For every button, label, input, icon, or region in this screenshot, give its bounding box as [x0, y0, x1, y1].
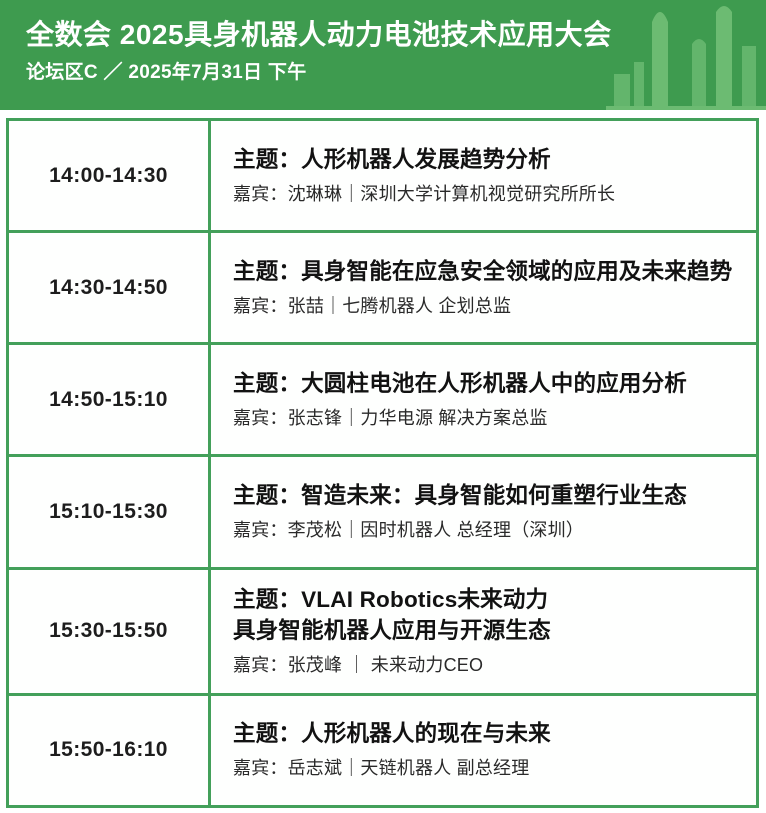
table-row: 15:30-15:50 主题：VLAI Robotics未来动力 具身智能机器人…	[8, 568, 758, 694]
session-topic: 主题：人形机器人的现在与未来	[233, 718, 746, 749]
session-detail: 主题：大圆柱电池在人形机器人中的应用分析 嘉宾：张志锋｜力华电源 解决方案总监	[210, 344, 758, 456]
session-topic-line: 主题：人形机器人的现在与未来	[233, 718, 746, 749]
session-time: 14:30-14:50	[8, 232, 210, 344]
table-row: 15:50-16:10 主题：人形机器人的现在与未来 嘉宾：岳志斌｜天链机器人 …	[8, 694, 758, 806]
session-guest: 嘉宾：岳志斌｜天链机器人 副总经理	[233, 754, 746, 782]
session-detail: 主题：VLAI Robotics未来动力 具身智能机器人应用与开源生态 嘉宾：张…	[210, 568, 758, 694]
poster-header: 全数会 2025具身机器人动力电池技术应用大会 论坛区C ／ 2025年7月31…	[0, 0, 766, 110]
session-topic-line: 主题：人形机器人发展趋势分析	[233, 144, 746, 175]
session-guest: 嘉宾：张志锋｜力华电源 解决方案总监	[233, 404, 746, 432]
session-guest: 嘉宾：张喆｜七腾机器人 企划总监	[233, 292, 746, 320]
session-topic: 主题：大圆柱电池在人形机器人中的应用分析	[233, 368, 746, 399]
session-time: 15:50-16:10	[8, 694, 210, 806]
skyline-graphic	[606, 0, 766, 110]
session-topic: 主题：VLAI Robotics未来动力 具身智能机器人应用与开源生态	[233, 584, 746, 646]
session-topic-line: 主题：大圆柱电池在人形机器人中的应用分析	[233, 368, 746, 399]
session-guest: 嘉宾：李茂松｜因时机器人 总经理（深圳）	[233, 516, 746, 544]
session-detail: 主题：具身智能在应急安全领域的应用及未来趋势 嘉宾：张喆｜七腾机器人 企划总监	[210, 232, 758, 344]
session-time: 15:30-15:50	[8, 568, 210, 694]
table-row: 14:30-14:50 主题：具身智能在应急安全领域的应用及未来趋势 嘉宾：张喆…	[8, 232, 758, 344]
conference-subtitle: 论坛区C ／ 2025年7月31日 下午	[26, 58, 612, 88]
session-detail: 主题：智造未来：具身智能如何重塑行业生态 嘉宾：李茂松｜因时机器人 总经理（深圳…	[210, 456, 758, 568]
session-topic-line: 主题：智造未来：具身智能如何重塑行业生态	[233, 480, 746, 511]
session-time: 14:00-14:30	[8, 120, 210, 232]
session-topic-line: 主题：具身智能在应急安全领域的应用及未来趋势	[233, 256, 746, 287]
session-topic-line: 主题：VLAI Robotics未来动力	[233, 584, 746, 615]
conference-title: 全数会 2025具身机器人动力电池技术应用大会	[26, 18, 612, 52]
session-topic-line: 具身智能机器人应用与开源生态	[233, 615, 746, 646]
session-detail: 主题：人形机器人发展趋势分析 嘉宾：沈琳琳｜深圳大学计算机视觉研究所所长	[210, 120, 758, 232]
session-time: 14:50-15:10	[8, 344, 210, 456]
table-row: 14:00-14:30 主题：人形机器人发展趋势分析 嘉宾：沈琳琳｜深圳大学计算…	[8, 120, 758, 232]
session-topic: 主题：具身智能在应急安全领域的应用及未来趋势	[233, 256, 746, 287]
schedule-container: 14:00-14:30 主题：人形机器人发展趋势分析 嘉宾：沈琳琳｜深圳大学计算…	[6, 118, 759, 808]
schedule-body: 14:00-14:30 主题：人形机器人发展趋势分析 嘉宾：沈琳琳｜深圳大学计算…	[8, 120, 758, 807]
session-guest: 嘉宾：沈琳琳｜深圳大学计算机视觉研究所所长	[233, 180, 746, 208]
session-topic: 主题：智造未来：具身智能如何重塑行业生态	[233, 480, 746, 511]
session-time: 15:10-15:30	[8, 456, 210, 568]
table-row: 15:10-15:30 主题：智造未来：具身智能如何重塑行业生态 嘉宾：李茂松｜…	[8, 456, 758, 568]
schedule-table: 14:00-14:30 主题：人形机器人发展趋势分析 嘉宾：沈琳琳｜深圳大学计算…	[6, 118, 759, 808]
agenda-poster: 全数会 2025具身机器人动力电池技术应用大会 论坛区C ／ 2025年7月31…	[0, 0, 766, 813]
session-guest: 嘉宾：张茂峰 ｜ 未来动力CEO	[233, 651, 746, 679]
session-detail: 主题：人形机器人的现在与未来 嘉宾：岳志斌｜天链机器人 副总经理	[210, 694, 758, 806]
header-text-block: 全数会 2025具身机器人动力电池技术应用大会 论坛区C ／ 2025年7月31…	[26, 18, 612, 88]
table-row: 14:50-15:10 主题：大圆柱电池在人形机器人中的应用分析 嘉宾：张志锋｜…	[8, 344, 758, 456]
session-topic: 主题：人形机器人发展趋势分析	[233, 144, 746, 175]
